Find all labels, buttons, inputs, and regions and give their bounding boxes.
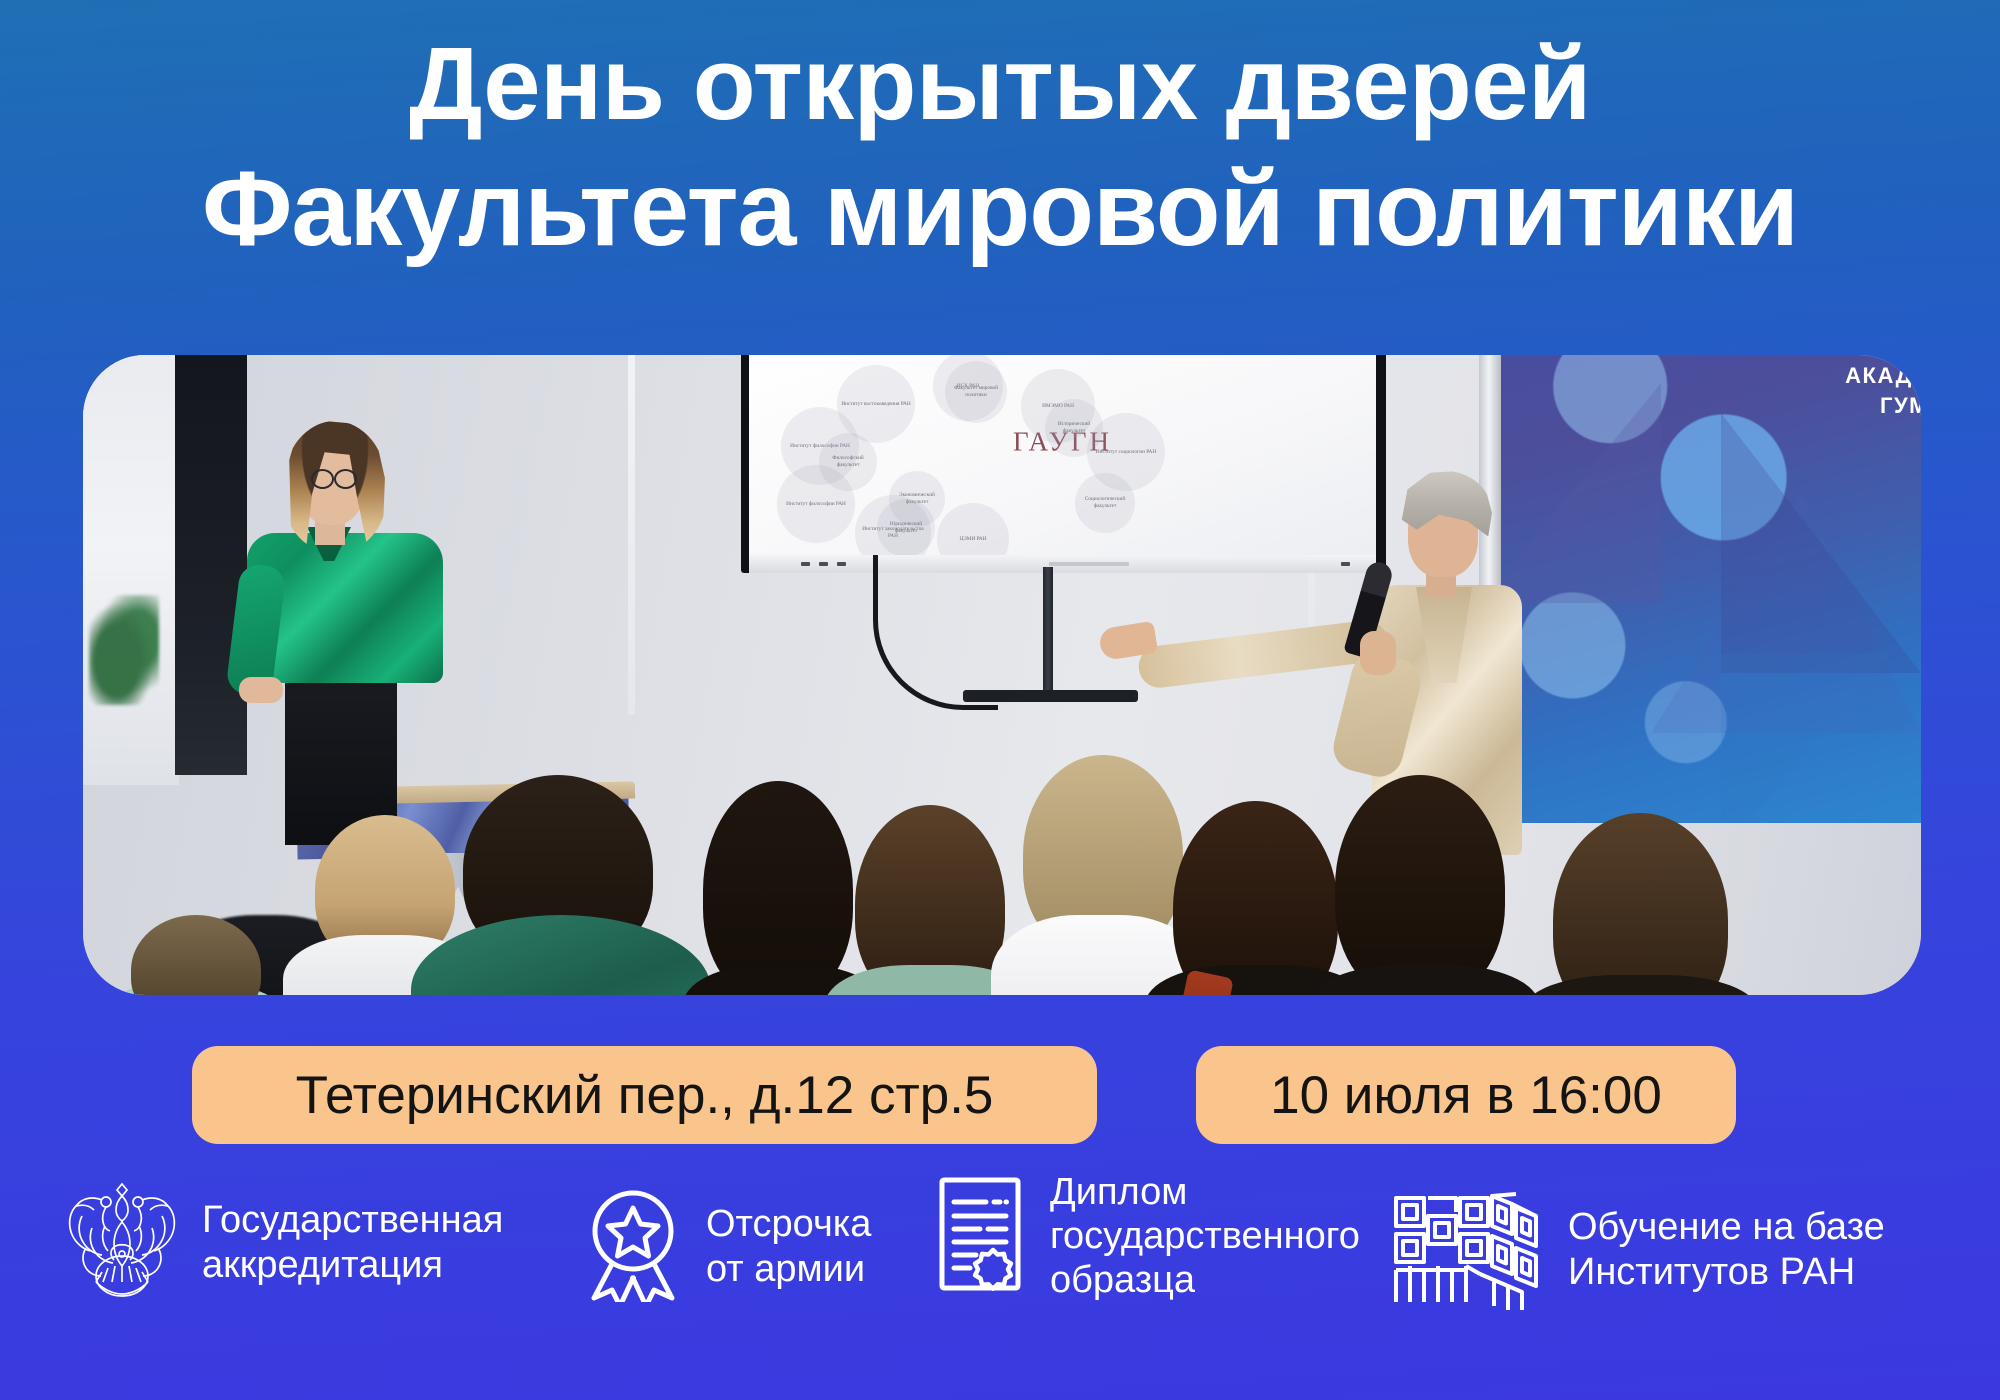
screen-control-bar — [749, 555, 1376, 573]
feature-ran-institutes: Обучение на базе Институтов РАН — [1388, 1184, 1885, 1315]
medal-star-icon — [580, 1186, 686, 1307]
audience-row — [83, 715, 1921, 995]
feature-state-accreditation: Государственная аккредитация — [62, 1176, 503, 1309]
slide-node: Факультет мировой политики — [945, 361, 1007, 423]
datetime-badge[interactable]: 10 июля в 16:00 — [1196, 1046, 1736, 1144]
slide-node: Философский факультет — [819, 433, 877, 491]
info-badges: Тетеринский пер., д.12 стр.5 10 июля в 1… — [0, 1040, 2000, 1150]
feature-label: Отсрочка от армии — [706, 1202, 871, 1290]
page-title: День открытых дверей Факультета мировой … — [0, 22, 2000, 273]
title-line-1: День открытых дверей — [0, 22, 2000, 146]
feature-label: Обучение на базе Институтов РАН — [1568, 1205, 1885, 1293]
title-line-2: Факультета мировой политики — [0, 146, 2000, 273]
slide-node: Юридический факультет — [877, 499, 935, 555]
slide-node: Исторический факультет — [1045, 399, 1103, 457]
eyeglasses-icon — [311, 469, 357, 485]
feature-label: Диплом государственного образца — [1050, 1170, 1360, 1302]
screen-stand-pole — [1043, 567, 1053, 697]
feature-state-diploma: Диплом государственного образца — [930, 1170, 1360, 1302]
address-badge[interactable]: Тетеринский пер., д.12 стр.5 — [192, 1046, 1097, 1144]
feature-army-deferment: Отсрочка от армии — [580, 1186, 871, 1307]
event-photo: ГАУГН Институт востоковедения РАН ИСК РА… — [83, 355, 1921, 995]
diploma-certificate-icon — [930, 1172, 1030, 1301]
presentation-screen: ГАУГН Институт востоковедения РАН ИСК РА… — [741, 355, 1386, 573]
poster-canvas: День открытых дверей Факультета мировой … — [0, 0, 2000, 1400]
potted-plant — [89, 595, 159, 705]
feature-list: Государственная аккредитация Отсрочка от… — [0, 1176, 2000, 1386]
slide-node: Социологический факультет — [1075, 473, 1135, 533]
institute-building-icon — [1388, 1184, 1548, 1315]
feature-label: Государственная аккредитация — [202, 1198, 503, 1286]
banner-title-line2: ГУМ — [1845, 391, 1921, 421]
banner-title: АКАДЕ ГУМ — [1845, 361, 1921, 420]
slide-node: ЦЭМИ РАН — [937, 503, 1009, 555]
banner-title-line1: АКАДЕ — [1845, 361, 1921, 391]
russian-coat-of-arms-icon — [62, 1176, 182, 1309]
